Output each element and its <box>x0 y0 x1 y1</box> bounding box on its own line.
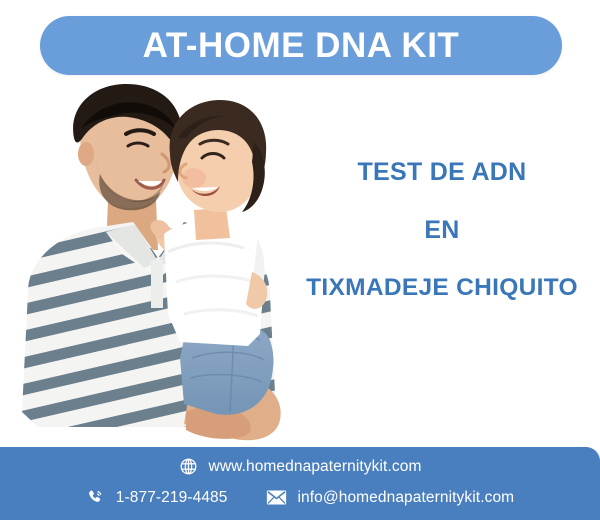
footer-website-row: www.homednapaternitykit.com <box>0 457 600 476</box>
headline-block: TEST DE ADN EN TIXMADEJE CHIQUITO <box>292 160 592 301</box>
headline-line-1: TEST DE ADN <box>292 160 592 185</box>
globe-icon <box>179 457 198 476</box>
phone-icon <box>86 488 105 507</box>
footer-website-text[interactable]: www.homednapaternitykit.com <box>209 458 422 476</box>
footer-contact-row: 1-877-219-4485 info@homednapaternitykit.… <box>0 488 600 507</box>
footer-email-text[interactable]: info@homednapaternitykit.com <box>298 489 515 507</box>
poster-canvas: AT-HOME DNA KIT <box>0 0 600 520</box>
footer-contact-bar: www.homednapaternitykit.com 1-877-219-44… <box>0 447 600 520</box>
family-photo <box>8 82 328 462</box>
title-banner: AT-HOME DNA KIT <box>40 16 562 75</box>
headline-line-2: EN <box>292 218 592 243</box>
envelope-icon <box>266 489 287 506</box>
family-photo-illustration <box>8 82 328 462</box>
footer-phone-text[interactable]: 1-877-219-4485 <box>116 489 228 507</box>
title-banner-text: AT-HOME DNA KIT <box>143 28 460 63</box>
headline-line-3: TIXMADEJE CHIQUITO <box>292 276 592 301</box>
